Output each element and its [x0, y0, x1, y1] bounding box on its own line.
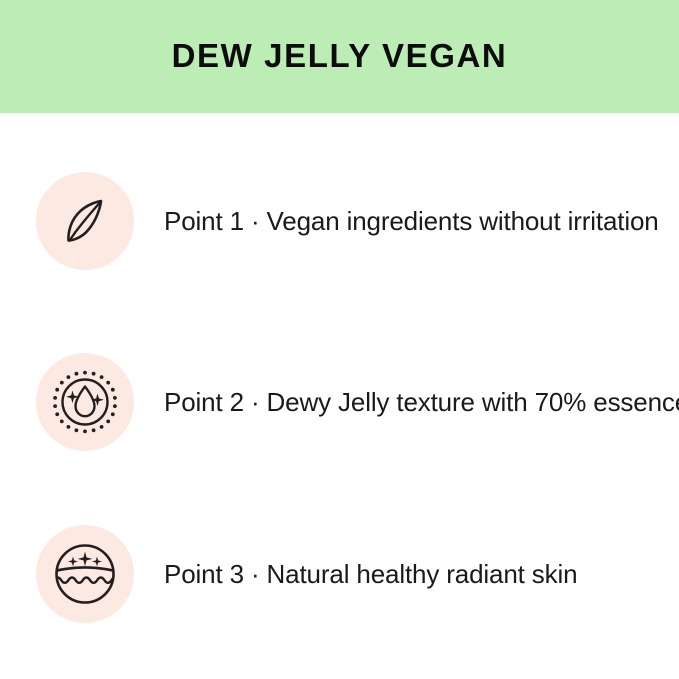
water-droplet-sparkle-icon-badge — [36, 353, 134, 451]
water-droplet-sparkle-icon — [52, 369, 118, 435]
header-banner: DEW JELLY VEGAN — [0, 0, 679, 113]
radiant-skin-icon-badge — [36, 525, 134, 623]
page-title: DEW JELLY VEGAN — [172, 39, 508, 74]
list-item-label: Point 1 · Vegan ingredients without irri… — [164, 172, 659, 270]
product-benefits-card: DEW JELLY VEGAN Point 1 · Vegan ingredie… — [0, 0, 679, 679]
leaf-icon — [55, 191, 115, 251]
list-item: Point 3 · Natural healthy radiant skin — [0, 525, 679, 625]
points-list: Point 1 · Vegan ingredients without irri… — [0, 113, 679, 679]
leaf-icon-badge — [36, 172, 134, 270]
list-item-label: Point 3 · Natural healthy radiant skin — [164, 525, 577, 623]
list-item: Point 1 · Vegan ingredients without irri… — [0, 172, 679, 272]
list-item-label: Point 2 · Dewy Jelly texture with 70% es… — [164, 353, 679, 451]
radiant-skin-icon — [54, 543, 116, 605]
list-item: Point 2 · Dewy Jelly texture with 70% es… — [0, 353, 679, 453]
